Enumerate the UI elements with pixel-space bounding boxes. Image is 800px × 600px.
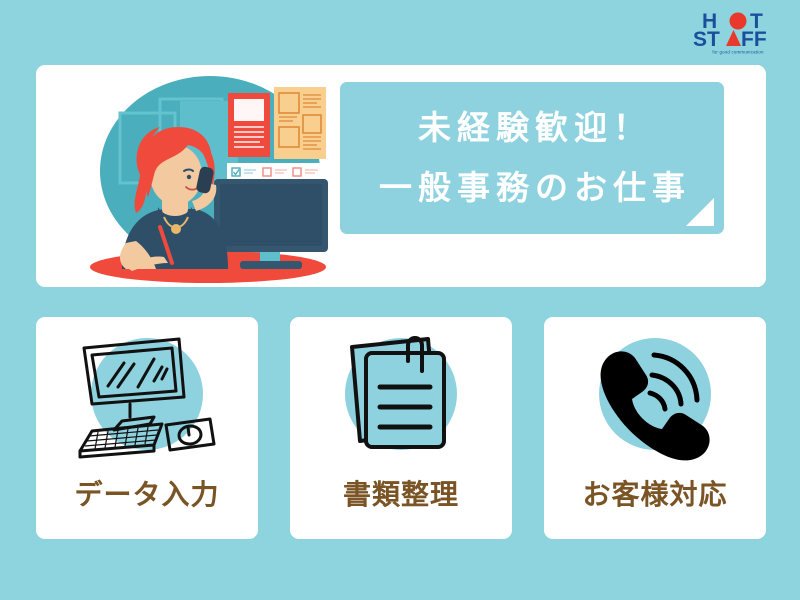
feature-card-label: お客様対応	[544, 473, 766, 513]
feature-card-data-entry[interactable]: データ入力	[36, 317, 258, 539]
headline-line-1: 未経験歓迎！	[340, 110, 724, 146]
headline-line-2: 一般事務のお仕事	[340, 170, 724, 206]
svg-text:ST: ST	[693, 28, 720, 51]
desktop-computer-icon	[62, 331, 232, 466]
hot-staff-logo: H T ST FF for good communication	[688, 6, 788, 56]
phone-handset-icon	[570, 331, 740, 466]
feature-card-label: データ入力	[36, 473, 258, 513]
feature-card-document-filing[interactable]: 書類整理	[290, 317, 512, 539]
headline-box: 未経験歓迎！ 一般事務のお仕事	[340, 82, 724, 234]
svg-text:for good communication: for good communication	[712, 50, 764, 55]
feature-card-customer-service[interactable]: お客様対応	[544, 317, 766, 539]
svg-text:FF: FF	[741, 28, 767, 51]
corner-triangle-icon	[686, 198, 714, 226]
documents-paperclip-icon	[316, 331, 486, 466]
hero-card: 未経験歓迎！ 一般事務のお仕事	[36, 65, 766, 287]
woman-on-phone-at-desk-illustration	[60, 71, 350, 283]
feature-cards: データ入力 書類整理	[36, 317, 766, 539]
feature-card-label: 書類整理	[290, 473, 512, 513]
